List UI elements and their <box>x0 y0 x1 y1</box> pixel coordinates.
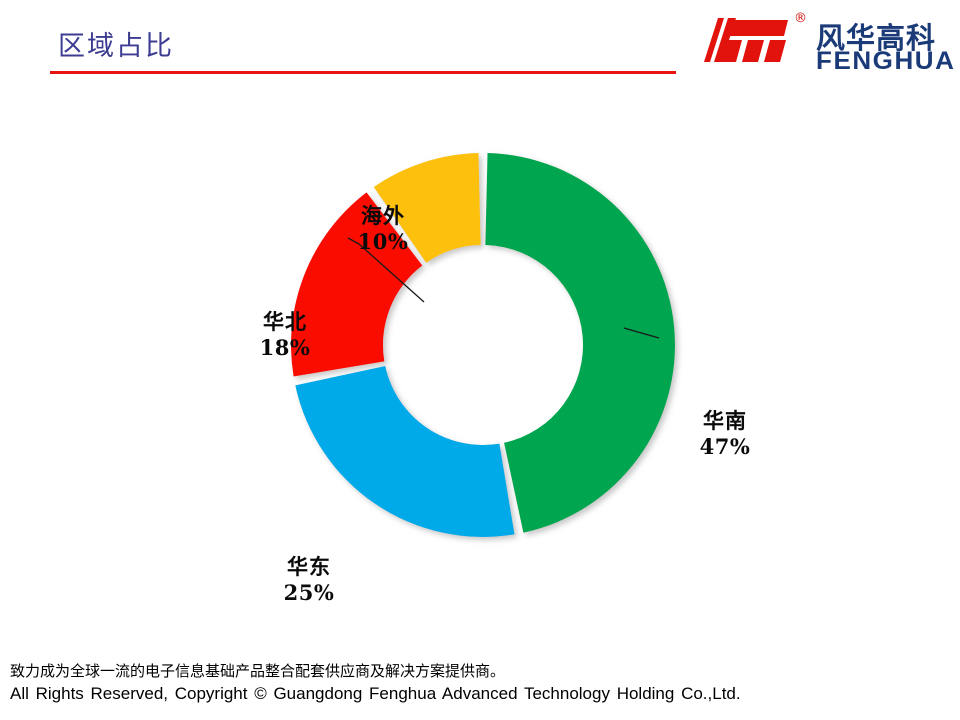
footer: 致力成为全球一流的电子信息基础产品整合配套供应商及解决方案提供商。 All Ri… <box>10 661 950 706</box>
slice-label-east-value: 25% <box>252 580 366 606</box>
footer-slogan-cn: 致力成为全球一流的电子信息基础产品整合配套供应商及解决方案提供商。 <box>10 661 950 682</box>
slice-label-south-name: 华南 <box>668 408 782 434</box>
slice-label-north-name: 华北 <box>228 309 342 335</box>
slide-canvas: 区域占比 ® 风华高科 FENGHUA <box>0 0 960 720</box>
slice-label-north: 华北 18% <box>228 309 342 360</box>
region-share-doughnut-chart: 海外 10% 华北 18% 华东 25% 华南 47% <box>0 90 960 590</box>
slice-label-south: 华南 47% <box>668 408 782 459</box>
doughnut-slice-0[interactable] <box>485 153 675 533</box>
page-title: 区域占比 <box>58 24 174 63</box>
fenghua-logo-mark-icon <box>690 14 798 66</box>
slice-label-overseas-name: 海外 <box>326 203 440 229</box>
slice-label-overseas-value: 10% <box>326 229 440 255</box>
company-logo: ® 风华高科 FENGHUA <box>690 10 948 72</box>
slice-label-south-value: 47% <box>668 434 782 460</box>
footer-copyright-en: All Rights Reserved, Copyright © Guangdo… <box>10 682 950 706</box>
doughnut-slice-1[interactable] <box>295 366 514 537</box>
registered-trademark-icon: ® <box>794 12 807 25</box>
doughnut-chart-svg <box>0 90 960 590</box>
logo-name-en: FENGHUA <box>816 47 955 76</box>
title-underline-rule <box>50 71 676 74</box>
slice-label-overseas: 海外 10% <box>326 203 440 254</box>
slice-label-east: 华东 25% <box>252 554 366 605</box>
slice-label-east-name: 华东 <box>252 554 366 580</box>
slice-label-north-value: 18% <box>228 335 342 361</box>
